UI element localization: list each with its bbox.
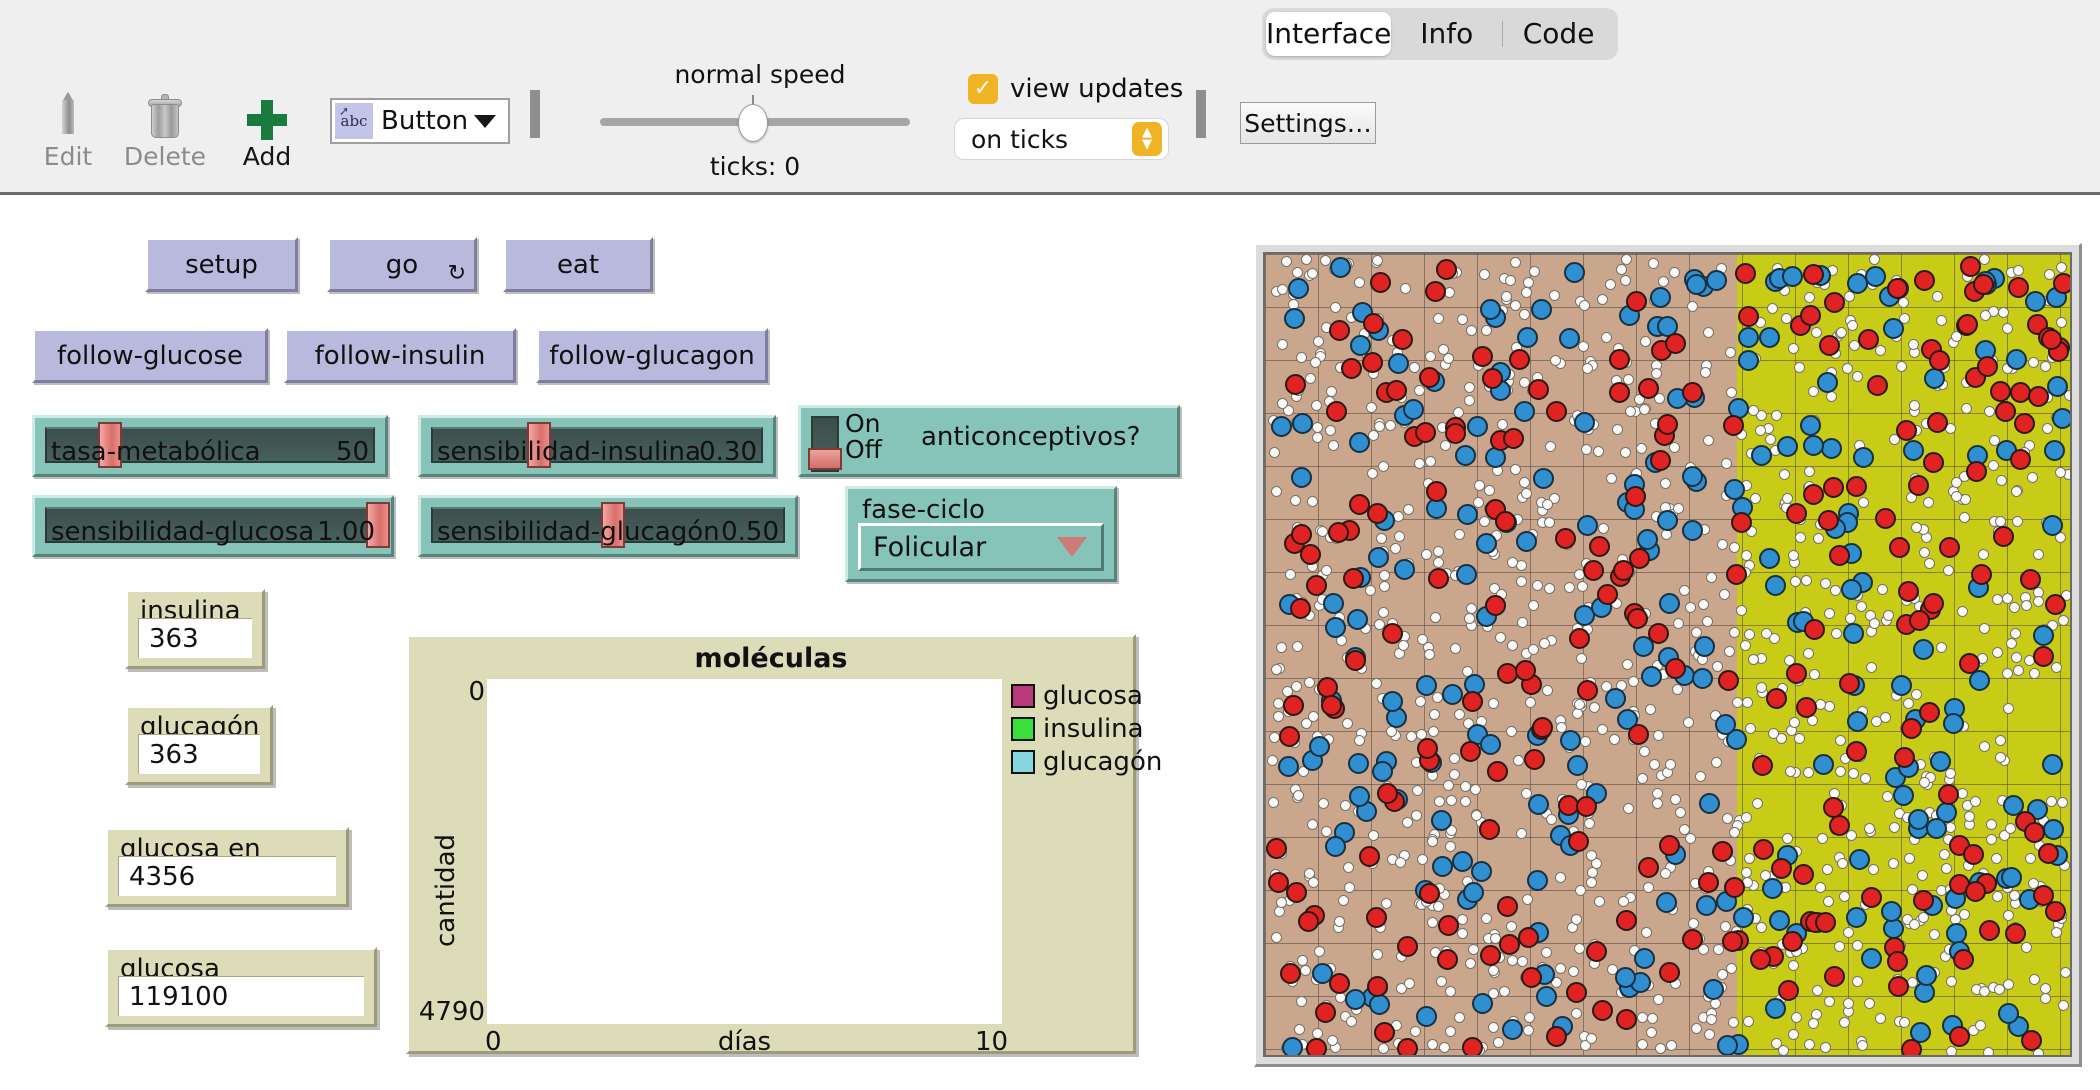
plot-x-axis-label: días <box>487 1027 1002 1057</box>
glucagon-molecule <box>2006 349 2027 370</box>
legend-item-glucagon: glucagón <box>1011 747 1162 777</box>
slider-sensibilidad-glucagon[interactable]: sensibilidad-glucagón 0.50 <box>418 495 798 557</box>
glucose-molecule <box>1768 728 1779 739</box>
glucagon-molecule <box>1813 754 1834 775</box>
glucose-molecule <box>1860 773 1871 784</box>
world-view-canvas[interactable] <box>1263 252 2072 1057</box>
insulin-molecule <box>1887 278 1908 299</box>
glucose-molecule <box>1445 1026 1456 1037</box>
glucose-molecule <box>1464 382 1475 393</box>
glucose-molecule <box>2056 317 2067 328</box>
world-view[interactable] <box>1254 243 2082 1067</box>
insulin-molecule <box>1328 522 1349 543</box>
glucose-molecule <box>1995 516 2006 527</box>
insulin-molecule <box>1546 401 1567 422</box>
insulin-molecule <box>1901 1039 1922 1057</box>
glucose-molecule <box>1794 362 1805 373</box>
glucose-molecule <box>1499 986 1510 997</box>
glucose-molecule <box>1317 526 1328 537</box>
glucose-molecule <box>1869 254 1880 265</box>
plot-y-axis-label: cantidad <box>431 834 461 947</box>
glucose-molecule <box>1706 572 1717 583</box>
insulin-molecule <box>1657 414 1678 435</box>
insulin-molecule <box>1616 910 1637 931</box>
insulin-molecule <box>2024 822 2045 843</box>
glucose-molecule <box>1848 768 1859 779</box>
stepper-icon[interactable]: ▲▼ <box>1132 122 1162 156</box>
glucose-molecule <box>1698 599 1709 610</box>
eat-button-label: eat <box>557 250 599 280</box>
glucose-molecule <box>1367 468 1378 479</box>
setup-button[interactable]: setup <box>145 237 298 292</box>
glucose-molecule <box>1803 648 1814 659</box>
glucagon-molecule <box>1564 262 1585 283</box>
glucose-molecule <box>1433 313 1444 324</box>
insulin-molecule <box>1919 702 1940 723</box>
glucose-molecule <box>1815 882 1826 893</box>
glucose-molecule <box>1325 425 1336 436</box>
glucose-molecule <box>1811 327 1822 338</box>
glucose-molecule <box>1724 646 1735 657</box>
legend-item-glucosa: glucosa <box>1011 681 1162 711</box>
glucose-molecule <box>1919 547 1930 558</box>
glucose-molecule <box>1501 291 1512 302</box>
setup-button-label: setup <box>185 250 258 280</box>
glucose-molecule <box>1586 850 1597 861</box>
switch-anticonceptivos[interactable]: On Off anticonceptivos? <box>798 405 1180 477</box>
glucose-molecule <box>1320 255 1331 266</box>
switch-off-label: Off <box>845 436 882 464</box>
glucose-molecule <box>1385 420 1396 431</box>
glucagon-molecule <box>1926 818 1947 839</box>
glucose-molecule <box>1653 730 1664 741</box>
glucose-molecule <box>1366 402 1377 413</box>
glucose-molecule <box>1576 653 1587 664</box>
glucagon-molecule <box>1349 432 1370 453</box>
glucose-molecule <box>1555 963 1566 974</box>
glucose-molecule <box>1429 709 1440 720</box>
glucose-molecule <box>1445 841 1456 852</box>
glucose-molecule <box>1506 726 1517 737</box>
insulin-molecule <box>1966 461 1987 482</box>
glucose-molecule <box>1545 441 1556 452</box>
widget-type-dropdown[interactable]: ➚ abc Button <box>330 98 510 144</box>
update-mode-select[interactable]: on ticks ▲▼ <box>954 118 1169 160</box>
glucose-molecule <box>1653 994 1664 1005</box>
glucose-molecule <box>1328 440 1339 451</box>
glucose-molecule <box>1788 1029 1799 1040</box>
insulin-molecule <box>1366 907 1387 928</box>
tab-bar: Interface Info Code <box>1262 8 1618 60</box>
add-tool-button[interactable]: Add <box>207 88 327 172</box>
glucose-molecule <box>1310 357 1321 368</box>
glucose-molecule <box>1945 822 1956 833</box>
insulin-molecule <box>1698 872 1719 893</box>
insulin-molecule <box>1771 858 1792 879</box>
glucose-molecule <box>1847 320 1858 331</box>
glucose-molecule <box>1277 398 1288 409</box>
glucagon-molecule <box>1930 751 1951 772</box>
glucose-molecule <box>1466 603 1477 614</box>
glucose-molecule <box>1843 927 1854 938</box>
insulin-molecule <box>1766 688 1787 709</box>
insulin-molecule <box>1628 724 1649 745</box>
glucose-molecule <box>1539 638 1550 649</box>
insulin-molecule <box>1638 378 1659 399</box>
glucose-molecule <box>1788 550 1799 561</box>
glucose-molecule <box>1606 473 1617 484</box>
insulin-molecule <box>1415 422 1436 443</box>
insulin-molecule <box>1626 291 1647 312</box>
glucose-molecule <box>2051 927 2062 938</box>
glucose-molecule <box>1616 264 1627 275</box>
plot-canvas <box>487 679 1002 1024</box>
glucose-molecule <box>1801 575 1812 586</box>
speed-label: normal speed <box>600 60 920 89</box>
insulin-molecule <box>1901 718 1922 739</box>
glucose-molecule <box>1523 1025 1534 1036</box>
glucose-molecule <box>1488 965 1499 976</box>
insulin-molecule <box>1953 949 1974 970</box>
glucose-molecule <box>1273 698 1284 709</box>
glucose-molecule <box>1717 539 1728 550</box>
eat-button[interactable]: eat <box>503 237 653 292</box>
switch-handle[interactable] <box>808 448 842 470</box>
insulin-molecule <box>1326 401 1347 422</box>
glucose-molecule <box>1992 594 2003 605</box>
glucose-molecule <box>2027 472 2038 483</box>
tab-info[interactable]: Info <box>1391 12 1502 56</box>
glucagon-molecule <box>2047 376 2068 397</box>
glucose-molecule <box>1313 336 1324 347</box>
glucagon-molecule <box>1853 447 1874 468</box>
glucose-molecule <box>2058 615 2069 626</box>
glucagon-molecule <box>1650 287 1671 308</box>
legend-label-insulina: insulina <box>1043 714 1144 744</box>
glucose-molecule <box>2044 269 2055 280</box>
glucose-molecule <box>1465 958 1476 969</box>
glucagon-molecule <box>1452 851 1473 872</box>
glucagon-molecule <box>1516 531 1537 552</box>
insulin-molecule <box>2021 1030 2042 1051</box>
insulin-molecule <box>1815 912 1836 933</box>
insulin-molecule <box>1497 663 1518 684</box>
glucose-molecule <box>1597 724 1608 735</box>
glucagon-molecule <box>1847 711 1868 732</box>
insulin-molecule <box>1286 882 1307 903</box>
glucose-molecule <box>1823 896 1834 907</box>
insulin-molecule <box>1993 526 2014 547</box>
glucagon-molecule <box>1924 368 1945 389</box>
glucose-molecule <box>1421 549 1432 560</box>
glucose-molecule <box>1586 877 1597 888</box>
insulin-molecule <box>1796 697 1817 718</box>
follow-insulin-button[interactable]: follow-insulin <box>284 328 516 383</box>
settings-button[interactable]: Settings… <box>1240 102 1376 144</box>
glucose-molecule <box>1941 863 1952 874</box>
forever-icon: ↻ <box>448 264 466 284</box>
glucose-molecule <box>1454 529 1465 540</box>
insulin-molecule <box>1875 508 1896 529</box>
glucagon-molecule <box>1841 579 1862 600</box>
glucose-molecule <box>1403 504 1414 515</box>
insulin-molecule <box>1867 375 1888 396</box>
toolbar-divider-2 <box>1196 90 1206 138</box>
glucose-molecule <box>1285 569 1296 580</box>
glucose-molecule <box>1505 275 1516 286</box>
ticks-counter: ticks: 0 <box>600 152 910 181</box>
glucose-molecule <box>2029 974 2040 985</box>
insulin-molecule <box>2014 413 2035 434</box>
glucose-molecule <box>1464 395 1475 406</box>
glucagon-molecule <box>1403 399 1424 420</box>
insulin-molecule <box>1546 1026 1567 1047</box>
glucose-molecule <box>1679 585 1690 596</box>
insulin-molecule <box>1497 896 1518 917</box>
glucose-molecule <box>1636 443 1647 454</box>
glucose-molecule <box>1296 996 1307 1007</box>
speed-slider-group: normal speed ticks: 0 <box>600 60 920 190</box>
insulin-molecule <box>1345 650 1366 671</box>
insulin-molecule <box>1495 511 1516 532</box>
glucose-molecule <box>1343 862 1354 873</box>
insulin-molecule <box>1382 623 1403 644</box>
glucose-molecule <box>1740 640 1751 651</box>
glucose-molecule <box>1637 1039 1648 1050</box>
slider-sensibilidad-glucosa[interactable]: sensibilidad-glucosa 1.00 <box>32 495 394 557</box>
glucose-molecule <box>1529 266 1540 277</box>
glucose-molecule <box>1555 872 1566 883</box>
glucose-molecule <box>1291 681 1302 692</box>
slider-tasa-metabolica[interactable]: tasa-metabólica 50 <box>32 415 388 477</box>
glucose-molecule <box>1571 1008 1582 1019</box>
glucagon-molecule <box>1382 691 1403 712</box>
glucose-molecule <box>1376 533 1387 544</box>
insulin-molecule <box>1959 653 1980 674</box>
glucose-molecule <box>1637 773 1648 784</box>
glucagon-molecule <box>1369 994 1390 1015</box>
follow-glucose-button[interactable]: follow-glucose <box>32 328 268 383</box>
glucose-molecule <box>1395 857 1406 868</box>
glucose-molecule <box>1524 1012 1535 1023</box>
glucose-molecule <box>1857 1040 1868 1051</box>
glucose-molecule <box>1687 301 1698 312</box>
glucose-molecule <box>1820 578 1831 589</box>
glucose-molecule <box>1992 647 2003 658</box>
glucagon-molecule <box>1634 948 1655 969</box>
glucose-molecule <box>1589 702 1600 713</box>
plot-y-min-tick: 4790 <box>415 997 485 1027</box>
glucagon-molecule <box>1480 299 1501 320</box>
view-updates-group[interactable]: ✓ view updates <box>968 74 1183 104</box>
glucose-molecule <box>1864 998 1875 1009</box>
glucose-molecule <box>1856 601 1867 612</box>
insulin-molecule <box>1425 281 1446 302</box>
monitor-glucosa-almacenada: glucosa almacenada 119100 <box>105 947 377 1027</box>
glucose-molecule <box>1466 325 1477 336</box>
netlogo-window: Edit Delete Add ➚ abc Button normal spee… <box>0 0 2100 1090</box>
insulin-molecule <box>1462 691 1483 712</box>
glucagon-molecule <box>2052 408 2072 429</box>
glucose-molecule <box>1755 425 1766 436</box>
glucose-molecule <box>1582 363 1593 374</box>
glucose-molecule <box>1673 618 1684 629</box>
glucose-molecule <box>1425 351 1436 362</box>
insulin-molecule <box>2053 273 2072 294</box>
glucagon-molecule <box>1345 989 1366 1010</box>
insulin-molecule <box>1659 835 1680 856</box>
glucose-molecule <box>1297 955 1308 966</box>
go-button[interactable]: go ↻ <box>327 237 477 292</box>
glucose-molecule <box>1507 640 1518 651</box>
glucose-molecule <box>1311 400 1322 411</box>
glucose-molecule <box>2056 262 2067 273</box>
glucose-molecule <box>1523 277 1534 288</box>
chooser-fase-ciclo[interactable]: fase-ciclo Folicular <box>845 486 1117 582</box>
insulin-molecule <box>1363 313 1384 334</box>
widgets-pane: setup go ↻ eat follow-glucose follow-ins… <box>0 197 1245 1090</box>
glucose-molecule <box>1439 1042 1450 1053</box>
glucose-molecule <box>2021 942 2032 953</box>
insulin-molecule <box>1479 819 1500 840</box>
glucose-molecule <box>1809 669 1820 680</box>
insulin-molecule <box>1889 537 1910 558</box>
glucagon-molecule <box>1657 510 1678 531</box>
insulin-molecule <box>1949 1026 1970 1047</box>
insulin-molecule <box>1659 962 1680 983</box>
glucose-molecule <box>1404 978 1415 989</box>
chevron-down-icon[interactable] <box>1057 537 1087 557</box>
follow-glucose-label: follow-glucose <box>57 341 243 371</box>
glucose-molecule <box>1294 1024 1305 1035</box>
glucagon-molecule <box>1908 809 1929 830</box>
glucagon-molecule <box>1803 435 1824 456</box>
glucose-molecule <box>1521 488 1532 499</box>
glucagon-molecule <box>1843 623 1864 644</box>
glucagon-molecule <box>1527 870 1548 891</box>
glucose-molecule <box>1544 517 1555 528</box>
insulin-molecule <box>1367 503 1388 524</box>
glucose-molecule <box>2013 265 2024 276</box>
glucose-molecule <box>1917 870 1928 881</box>
glucose-molecule <box>1700 367 1711 378</box>
glucagon-molecule <box>2025 291 2046 312</box>
insulin-molecule <box>1803 264 1824 285</box>
glucagon-molecule <box>1560 730 1581 751</box>
glucagon-molecule <box>1759 327 1780 348</box>
glucose-molecule <box>1835 766 1846 777</box>
glucose-molecule <box>1622 659 1633 670</box>
glucose-molecule <box>1741 812 1752 823</box>
glucose-molecule <box>1609 734 1620 745</box>
glucose-molecule <box>1765 434 1776 445</box>
insulin-molecule <box>1957 314 1978 335</box>
glucose-molecule <box>2057 797 2068 808</box>
slider-name: sensibilidad-glucagón <box>437 517 720 547</box>
glucagon-molecule <box>2042 515 2063 536</box>
chooser-value-box[interactable]: Folicular <box>858 523 1104 571</box>
glucose-molecule <box>1839 1017 1850 1028</box>
glucagon-molecule <box>1821 438 1842 459</box>
toolbar: Edit Delete Add ➚ abc Button normal spee… <box>0 0 2100 196</box>
glucose-molecule <box>1744 629 1755 640</box>
insulin-molecule <box>1960 256 1981 277</box>
insulin-molecule <box>1846 741 1867 762</box>
insulin-molecule <box>1861 887 1882 908</box>
insulin-molecule <box>1973 274 1994 295</box>
glucagon-molecule <box>1943 713 1964 734</box>
glucose-molecule <box>1318 798 1329 809</box>
insulin-molecule <box>1979 920 2000 941</box>
insulin-molecule <box>1528 379 1549 400</box>
glucose-molecule <box>1843 998 1854 1009</box>
plot-y-max-tick: 0 <box>415 677 485 707</box>
glucose-molecule <box>1571 914 1582 925</box>
glucagon-molecule <box>1846 907 1867 928</box>
insulin-molecule <box>1923 593 1944 614</box>
insulin-molecule <box>1589 536 1610 557</box>
monitor-value: 363 <box>149 740 199 770</box>
tab-interface[interactable]: Interface <box>1266 12 1391 56</box>
insulin-molecule <box>1804 619 1825 640</box>
glucose-molecule <box>2013 665 2024 676</box>
legend-label-glucosa: glucosa <box>1043 681 1143 711</box>
glucose-molecule <box>1788 960 1799 971</box>
view-updates-checkbox[interactable]: ✓ <box>968 74 998 104</box>
insulin-molecule <box>1428 568 1449 589</box>
chevron-down-icon <box>474 115 496 128</box>
glucose-molecule <box>1304 677 1315 688</box>
monitor-insulina: insulina 363 <box>125 589 265 669</box>
glucose-molecule <box>1756 682 1767 693</box>
glucose-molecule <box>1835 735 1846 746</box>
glucose-molecule <box>1975 1020 1986 1031</box>
insulin-molecule <box>1472 346 1493 367</box>
glucagon-molecule <box>1347 609 1368 630</box>
glucose-molecule <box>1911 522 1922 533</box>
glucose-molecule <box>1939 849 1950 860</box>
glucose-molecule <box>1598 523 1609 534</box>
widget-type-value: Button <box>381 106 468 136</box>
insulin-molecule <box>1929 350 1950 371</box>
slider-sensibilidad-insulina[interactable]: sensibilidad-insulina 0.30 <box>418 415 776 477</box>
glucose-molecule <box>1904 853 1915 864</box>
glucagon-molecule <box>1348 753 1369 774</box>
glucose-molecule <box>1691 1023 1702 1034</box>
glucose-molecule <box>1594 896 1605 907</box>
glucose-molecule <box>1321 565 1332 576</box>
glucose-molecule <box>1986 819 1997 830</box>
insulin-molecule <box>1438 915 1459 936</box>
glucagon-molecule <box>1416 675 1437 696</box>
glucose-molecule <box>1454 709 1465 720</box>
glucose-molecule <box>1579 300 1590 311</box>
glucose-molecule <box>1866 662 1877 673</box>
glucose-molecule <box>1427 1039 1438 1050</box>
insulin-molecule <box>1750 949 1771 970</box>
speed-slider-knob[interactable] <box>738 104 768 142</box>
glucose-molecule <box>1647 1013 1658 1024</box>
insulin-molecule <box>1343 568 1364 589</box>
glucagon-molecule <box>1463 882 1484 903</box>
tab-code[interactable]: Code <box>1503 12 1614 56</box>
glucose-molecule <box>1620 275 1631 286</box>
glucose-molecule <box>1433 546 1444 557</box>
glucose-molecule <box>1936 642 1947 653</box>
follow-glucagon-button[interactable]: follow-glucagon <box>536 328 768 383</box>
cursor-glyph: ➚ <box>339 104 349 118</box>
insulin-molecule <box>1419 367 1440 388</box>
